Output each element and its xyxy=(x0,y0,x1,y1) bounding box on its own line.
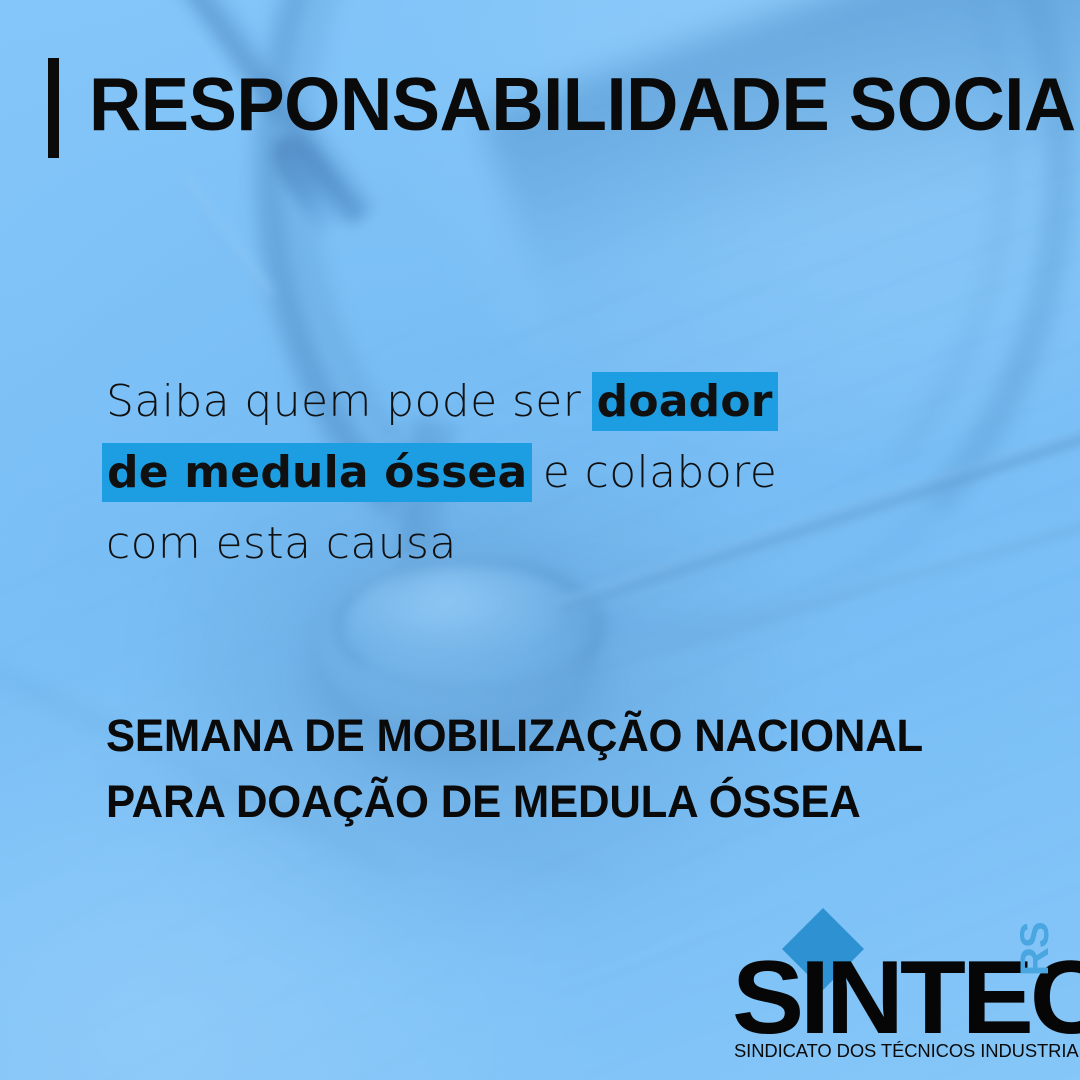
intro-line-2-plain: e colabore xyxy=(528,447,777,498)
vertical-bar-icon xyxy=(48,58,59,158)
poster-content: RESPONSABILIDADE SOCIAL Saiba quem pode … xyxy=(0,0,1080,1080)
headline: SEMANA DE MOBILIZAÇÃO NACIONAL PARA DOAÇ… xyxy=(106,703,923,835)
logo-state-suffix: RS xyxy=(1015,922,1055,976)
headline-line-2: PARA DOAÇÃO DE MEDULA ÓSSEA xyxy=(106,769,923,835)
headline-line-1: SEMANA DE MOBILIZAÇÃO NACIONAL xyxy=(106,703,923,769)
poster-canvas: RESPONSABILIDADE SOCIAL Saiba quem pode … xyxy=(0,0,1080,1080)
intro-line-1-plain: Saiba quem pode ser xyxy=(106,376,596,427)
sintec-logo: SINTEC RS SINDICATO DOS TÉCNICOS INDUSTR… xyxy=(732,918,1062,1068)
intro-line-1: Saiba quem pode ser doador xyxy=(106,366,946,437)
intro-paragraph: Saiba quem pode ser doador de medula óss… xyxy=(106,366,946,579)
page-title: RESPONSABILIDADE SOCIAL xyxy=(89,56,1080,152)
intro-highlight-doador: doador xyxy=(596,376,774,427)
intro-highlight-medula-ossea: de medula óssea xyxy=(106,447,528,498)
logo-tagline: SINDICATO DOS TÉCNICOS INDUSTRIAIS DO RS xyxy=(734,1040,1080,1062)
header: RESPONSABILIDADE SOCIAL xyxy=(48,56,1080,158)
intro-line-3: com esta causa xyxy=(106,508,946,579)
intro-line-2: de medula óssea e colabore xyxy=(106,437,946,508)
